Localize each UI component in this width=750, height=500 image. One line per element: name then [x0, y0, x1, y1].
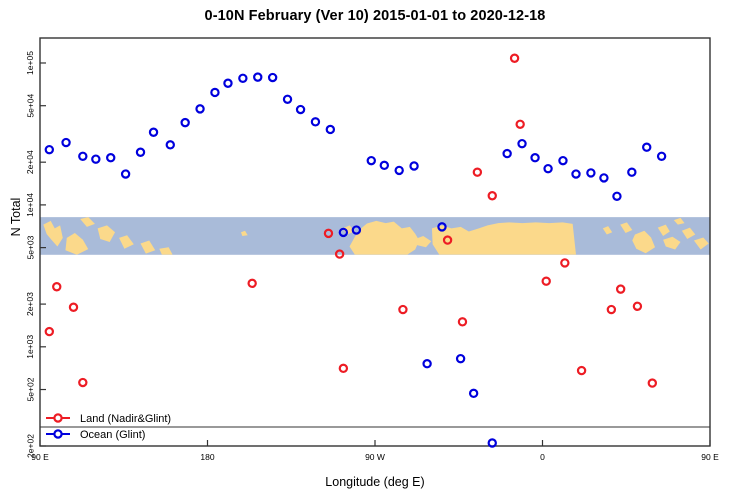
x-axis-ticks: 90 E18090 W090 E180	[31, 440, 750, 462]
data-point-land	[46, 328, 53, 335]
chart-legend[interactable]: Land (Nadir&Glint)Ocean (Glint)	[40, 408, 710, 442]
y-tick-label: 2e+03	[25, 292, 35, 316]
data-point-ocean	[327, 126, 334, 133]
data-point-ocean	[572, 170, 579, 177]
data-point-ocean	[531, 154, 538, 161]
x-axis-label: Longitude (deg E)	[0, 475, 750, 489]
data-point-ocean	[62, 139, 69, 146]
plot-area: 1e+055e+042e+041e+045e+032e+031e+035e+02…	[0, 0, 750, 500]
x-tick-label: 90 W	[365, 452, 385, 462]
data-point-land	[489, 192, 496, 199]
data-point-ocean	[381, 162, 388, 169]
x-tick-label: 90 E	[31, 452, 49, 462]
data-point-ocean	[107, 154, 114, 161]
x-tick-label: 90 E	[701, 452, 719, 462]
data-point-ocean	[137, 149, 144, 156]
legend-label-ocean[interactable]: Ocean (Glint)	[80, 429, 145, 441]
data-point-ocean	[122, 170, 129, 177]
series-ocean-points	[46, 74, 666, 447]
data-point-land	[634, 303, 641, 310]
data-point-ocean	[658, 153, 665, 160]
data-point-land	[578, 367, 585, 374]
y-tick-label: 1e+05	[25, 51, 35, 75]
data-point-ocean	[79, 153, 86, 160]
data-point-ocean	[613, 193, 620, 200]
legend-marker-land[interactable]	[54, 414, 61, 421]
data-point-ocean	[368, 157, 375, 164]
data-point-land	[617, 286, 624, 293]
y-tick-label: 5e+02	[25, 377, 35, 401]
legend-label-land[interactable]: Land (Nadir&Glint)	[80, 413, 171, 425]
data-point-land	[340, 365, 347, 372]
data-point-ocean	[410, 162, 417, 169]
x-tick-label: 0	[540, 452, 545, 462]
data-point-land	[459, 318, 466, 325]
data-point-ocean	[211, 89, 218, 96]
y-axis-label: N Total	[9, 167, 23, 267]
data-point-ocean	[224, 80, 231, 87]
data-point-land	[70, 304, 77, 311]
data-point-ocean	[518, 140, 525, 147]
data-point-land	[543, 278, 550, 285]
data-point-land	[79, 379, 86, 386]
data-point-land	[561, 259, 568, 266]
data-point-land	[511, 55, 518, 62]
data-point-land	[474, 169, 481, 176]
data-point-land	[649, 380, 656, 387]
data-point-land	[608, 306, 615, 313]
data-point-land	[399, 306, 406, 313]
data-point-ocean	[457, 355, 464, 362]
chart-container: 0-10N February (Ver 10) 2015-01-01 to 20…	[0, 0, 750, 500]
data-point-land	[53, 283, 60, 290]
data-point-ocean	[544, 165, 551, 172]
data-point-ocean	[643, 144, 650, 151]
x-tick-label: 180	[200, 452, 214, 462]
data-point-ocean	[269, 74, 276, 81]
data-point-ocean	[470, 390, 477, 397]
data-point-ocean	[254, 74, 261, 81]
data-point-ocean	[489, 439, 496, 446]
data-point-ocean	[396, 167, 403, 174]
world-map-band	[40, 217, 710, 255]
y-tick-label: 2e+04	[25, 150, 35, 174]
data-point-ocean	[424, 360, 431, 367]
data-point-ocean	[196, 105, 203, 112]
y-tick-label: 5e+03	[25, 235, 35, 259]
data-point-ocean	[92, 156, 99, 163]
data-point-ocean	[297, 106, 304, 113]
data-point-ocean	[239, 75, 246, 82]
y-tick-label: 1e+03	[25, 335, 35, 359]
data-point-ocean	[504, 150, 511, 157]
chart-title: 0-10N February (Ver 10) 2015-01-01 to 20…	[0, 8, 750, 24]
data-point-land	[517, 121, 524, 128]
data-point-ocean	[284, 96, 291, 103]
data-point-ocean	[167, 141, 174, 148]
data-point-ocean	[182, 119, 189, 126]
data-point-ocean	[587, 169, 594, 176]
data-point-ocean	[559, 157, 566, 164]
data-point-ocean	[150, 129, 157, 136]
y-tick-label: 5e+04	[25, 93, 35, 117]
data-point-ocean	[600, 174, 607, 181]
y-tick-label: 1e+04	[25, 193, 35, 217]
data-point-ocean	[46, 146, 53, 153]
data-point-land	[249, 280, 256, 287]
data-point-ocean	[312, 118, 319, 125]
legend-marker-ocean[interactable]	[54, 430, 61, 437]
data-point-ocean	[628, 169, 635, 176]
